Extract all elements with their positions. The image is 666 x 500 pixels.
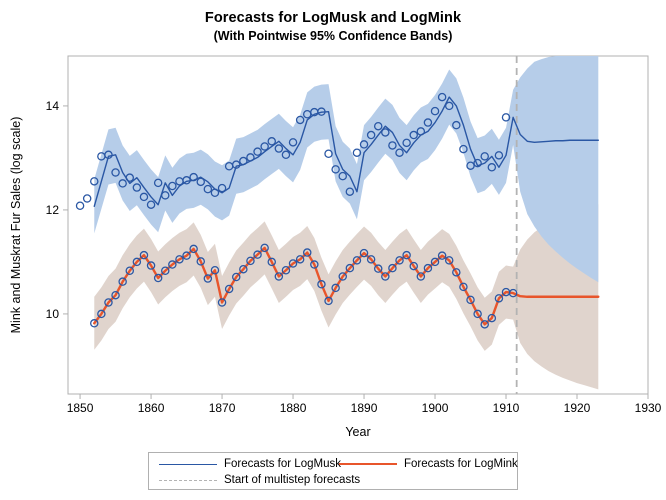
x-tick-label: 1870 — [209, 401, 236, 415]
legend-item-forecast-start[interactable]: Start of multistep forecasts — [159, 474, 360, 486]
y-tick-label: 14 — [46, 99, 60, 113]
y-axis-label: Mink and Muskrat Fur Sales (log scale) — [9, 117, 23, 334]
x-tick-label: 1890 — [351, 401, 378, 415]
chart-root: Forecasts for LogMusk and LogMink (With … — [0, 0, 666, 500]
legend-label-forecast-start: Start of multistep forecasts — [224, 474, 360, 486]
plot-area: 1850186018701880189019001910192019301012… — [0, 0, 666, 500]
x-tick-label: 1920 — [564, 401, 591, 415]
x-axis-label: Year — [345, 425, 370, 439]
legend-label-logmusk: Forecasts for LogMusk — [224, 458, 341, 470]
x-tick-label: 1910 — [493, 401, 520, 415]
legend-swatch-line-dashed — [159, 480, 217, 481]
x-tick-label: 1930 — [635, 401, 662, 415]
chart-svg: 1850186018701880189019001910192019301012… — [0, 0, 666, 500]
chart-legend: Forecasts for LogMusk Forecasts for LogM… — [148, 452, 518, 490]
x-tick-label: 1880 — [280, 401, 307, 415]
y-tick-label: 12 — [46, 203, 60, 217]
legend-swatch-line-orange — [339, 463, 397, 465]
x-tick-label: 1900 — [422, 401, 449, 415]
legend-label-logmink: Forecasts for LogMink — [404, 458, 518, 470]
legend-swatch-line-blue — [159, 464, 217, 465]
legend-item-logmusk[interactable]: Forecasts for LogMusk — [159, 458, 341, 470]
x-tick-label: 1850 — [67, 401, 94, 415]
legend-item-logmink[interactable]: Forecasts for LogMink — [339, 458, 518, 470]
x-tick-label: 1860 — [138, 401, 165, 415]
y-tick-label: 10 — [46, 307, 60, 321]
